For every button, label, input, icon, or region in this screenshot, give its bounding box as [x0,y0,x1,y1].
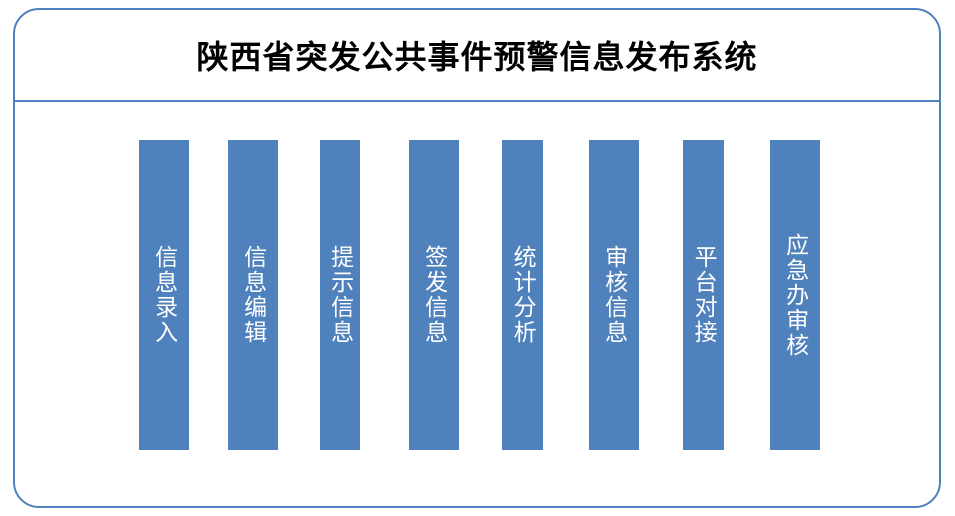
module-bar-label: 信息编辑 [239,245,266,345]
module-bar-label: 信息录入 [150,245,177,345]
system-title-bar: 陕西省突发公共事件预警信息发布系统 [15,10,939,102]
module-bar[interactable]: 统计分析 [502,140,543,450]
page-title: 陕西省突发公共事件预警信息发布系统 [196,32,757,78]
module-bar-label: 签发信息 [420,245,447,345]
module-bar-label: 统计分析 [509,245,536,345]
module-bar-label: 应急办审核 [781,233,808,358]
module-bar[interactable]: 提示信息 [320,140,360,450]
module-bar[interactable]: 签发信息 [409,140,459,450]
module-bar-label: 提示信息 [326,245,353,345]
module-bars-container: 信息录入信息编辑提示信息签发信息统计分析审核信息平台对接应急办审核 [15,104,939,506]
module-bar[interactable]: 信息录入 [139,140,189,450]
module-bar[interactable]: 应急办审核 [770,140,820,450]
module-bar[interactable]: 平台对接 [683,140,724,450]
module-bar-label: 平台对接 [690,245,717,345]
module-bar[interactable]: 信息编辑 [228,140,278,450]
module-bar-label: 审核信息 [600,245,627,345]
module-bar[interactable]: 审核信息 [589,140,639,450]
diagram-canvas: 陕西省突发公共事件预警信息发布系统 信息录入信息编辑提示信息签发信息统计分析审核… [0,0,955,516]
